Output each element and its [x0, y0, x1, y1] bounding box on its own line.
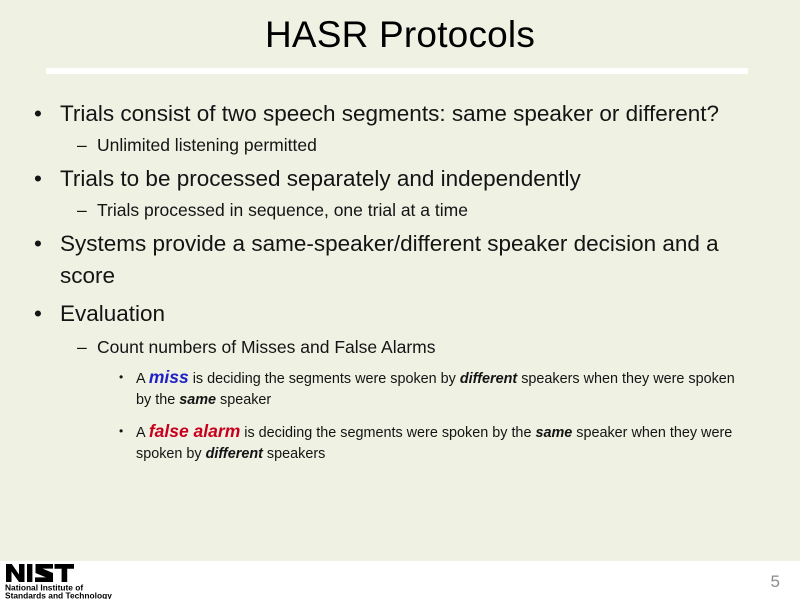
emphasis-different: different: [460, 371, 517, 387]
bullet-marker-icon: •: [34, 228, 42, 260]
bullet-text: Trials to be processed separately and in…: [60, 166, 581, 191]
bullet-marker-icon: •: [119, 367, 123, 388]
bullet-marker-icon: •: [119, 421, 123, 442]
bullet-level1: • Evaluation: [0, 298, 800, 330]
dash-marker-icon: –: [77, 334, 87, 361]
text-lead: A: [136, 425, 149, 441]
bullet-level2: – Unlimited listening permitted: [0, 132, 800, 159]
emphasis-false-alarm: false alarm: [149, 421, 240, 441]
bullet-level3-false-alarm: • A false alarm is deciding the segments…: [0, 421, 800, 465]
emphasis-miss: miss: [149, 367, 189, 387]
title-divider: [46, 68, 748, 74]
emphasis-different: different: [206, 446, 263, 462]
text-tail: speaker: [216, 392, 271, 408]
emphasis-same: same: [179, 392, 216, 408]
slide-body: • Trials consist of two speech segments:…: [0, 98, 800, 468]
dash-marker-icon: –: [77, 132, 87, 159]
bullet-level1: • Systems provide a same-speaker/differe…: [0, 228, 800, 292]
slide-canvas: HASR Protocols • Trials consist of two s…: [0, 0, 800, 599]
bullet-text: Unlimited listening permitted: [97, 135, 317, 155]
text-lead: A: [136, 371, 149, 387]
footer-band: [0, 561, 800, 599]
nist-logo: National Institute of Standards and Tech…: [4, 562, 112, 599]
bullet-text: Trials consist of two speech segments: s…: [60, 101, 719, 126]
bullet-text: Trials processed in sequence, one trial …: [97, 200, 468, 220]
svg-text:Standards and Technology: Standards and Technology: [5, 591, 112, 599]
bullet-level3-miss: • A miss is deciding the segments were s…: [0, 367, 800, 411]
bullet-level2: – Count numbers of Misses and False Alar…: [0, 334, 800, 361]
page-title: HASR Protocols: [0, 13, 800, 57]
bullet-level1: • Trials to be processed separately and …: [0, 163, 800, 195]
page-number: 5: [771, 572, 780, 592]
bullet-marker-icon: •: [34, 98, 42, 130]
text-mid: is deciding the segments were spoken by: [189, 371, 460, 387]
bullet-marker-icon: •: [34, 163, 42, 195]
bullet-marker-icon: •: [34, 298, 42, 330]
dash-marker-icon: –: [77, 197, 87, 224]
bullet-text: Systems provide a same-speaker/different…: [60, 231, 719, 288]
text-mid: is deciding the segments were spoken by …: [240, 425, 535, 441]
bullet-text: Evaluation: [60, 301, 165, 326]
bullet-text: Count numbers of Misses and False Alarms: [97, 337, 435, 357]
emphasis-same: same: [535, 425, 572, 441]
text-tail: speakers: [263, 446, 325, 462]
bullet-level1: • Trials consist of two speech segments:…: [0, 98, 800, 130]
bullet-level2: – Trials processed in sequence, one tria…: [0, 197, 800, 224]
